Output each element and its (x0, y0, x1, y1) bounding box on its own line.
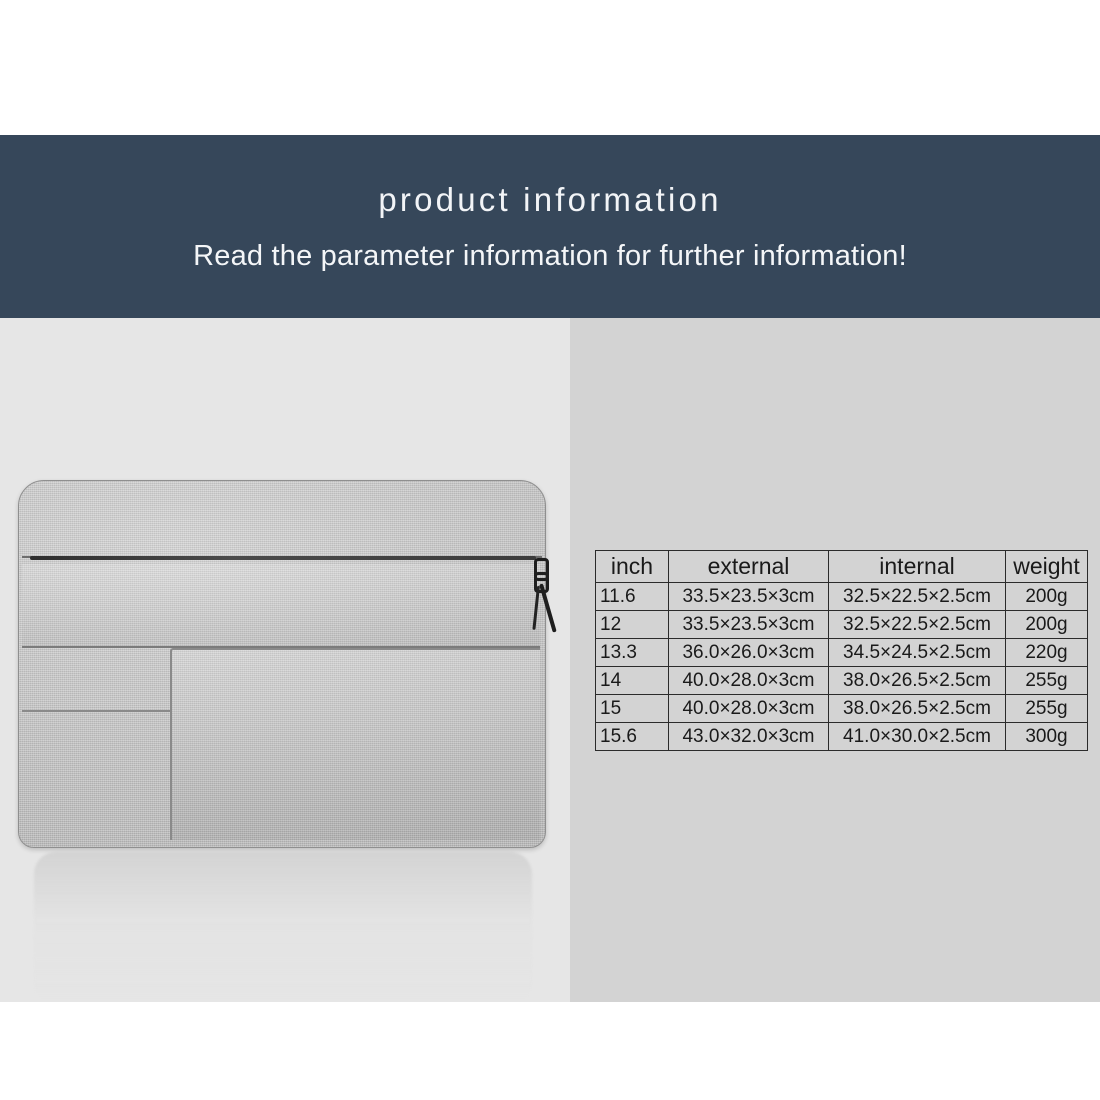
zipper-pull-icon (528, 558, 554, 636)
cell-inch: 15 (596, 695, 669, 723)
table-row: 11.6 33.5×23.5×3cm 32.5×22.5×2.5cm 200g (596, 583, 1088, 611)
cell-inch: 14 (596, 667, 669, 695)
product-image-panel (0, 318, 570, 1002)
cell-weight: 255g (1006, 667, 1088, 695)
page-title: product information (378, 183, 721, 216)
table-row: 15 40.0×28.0×3cm 38.0×26.5×2.5cm 255g (596, 695, 1088, 723)
cell-external: 40.0×28.0×3cm (669, 667, 829, 695)
sleeve-top-seam (22, 482, 542, 558)
cell-inch: 12 (596, 611, 669, 639)
cell-weight: 255g (1006, 695, 1088, 723)
cell-inch: 15.6 (596, 723, 669, 751)
product-reflection (34, 852, 532, 1002)
cell-external: 43.0×32.0×3cm (669, 723, 829, 751)
cell-inch: 11.6 (596, 583, 669, 611)
content-area: inch external internal weight 11.6 33.5×… (0, 318, 1100, 1002)
cell-weight: 200g (1006, 583, 1088, 611)
table-row: 15.6 43.0×32.0×3cm 41.0×30.0×2.5cm 300g (596, 723, 1088, 751)
cell-weight: 220g (1006, 639, 1088, 667)
cell-internal: 32.5×22.5×2.5cm (829, 611, 1006, 639)
cell-external: 36.0×26.0×3cm (669, 639, 829, 667)
cell-internal: 38.0×26.5×2.5cm (829, 667, 1006, 695)
cell-internal: 38.0×26.5×2.5cm (829, 695, 1006, 723)
sleeve-side-pocket (22, 710, 170, 840)
table-row: 14 40.0×28.0×3cm 38.0×26.5×2.5cm 255g (596, 667, 1088, 695)
main-zipper-icon (30, 556, 536, 560)
sleeve-front-pocket (170, 648, 540, 840)
page-subtitle: Read the parameter information for furth… (193, 242, 907, 271)
column-header-external: external (669, 551, 829, 583)
cell-weight: 300g (1006, 723, 1088, 751)
header-banner: product information Read the parameter i… (0, 135, 1100, 318)
cell-internal: 32.5×22.5×2.5cm (829, 583, 1006, 611)
cell-external: 40.0×28.0×3cm (669, 695, 829, 723)
product-information-page: product information Read the parameter i… (0, 0, 1100, 1100)
zipper-cord-right (532, 586, 540, 630)
table-row: 13.3 36.0×26.0×3cm 34.5×24.5×2.5cm 220g (596, 639, 1088, 667)
cell-internal: 41.0×30.0×2.5cm (829, 723, 1006, 751)
cell-weight: 200g (1006, 611, 1088, 639)
cell-external: 33.5×23.5×3cm (669, 583, 829, 611)
spec-table-wrapper: inch external internal weight 11.6 33.5×… (595, 550, 1087, 751)
table-header-row: inch external internal weight (596, 551, 1088, 583)
column-header-weight: weight (1006, 551, 1088, 583)
column-header-internal: internal (829, 551, 1006, 583)
table-row: 12 33.5×23.5×3cm 32.5×22.5×2.5cm 200g (596, 611, 1088, 639)
specification-panel: inch external internal weight 11.6 33.5×… (570, 318, 1100, 1002)
cell-internal: 34.5×24.5×2.5cm (829, 639, 1006, 667)
product-photo (0, 318, 570, 1002)
column-header-inch: inch (596, 551, 669, 583)
cell-inch: 13.3 (596, 639, 669, 667)
cell-external: 33.5×23.5×3cm (669, 611, 829, 639)
sleeve-upper-pocket (22, 564, 540, 648)
specification-table: inch external internal weight 11.6 33.5×… (595, 550, 1088, 751)
